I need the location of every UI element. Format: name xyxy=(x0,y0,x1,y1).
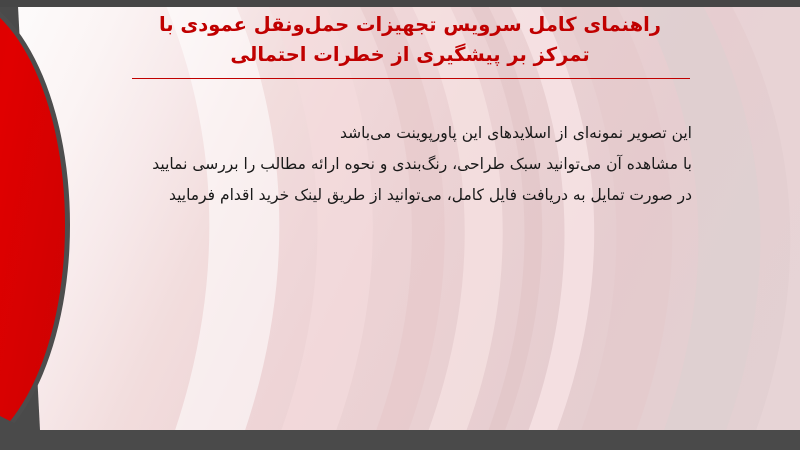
body-line-1: این تصویر نمونه‌ای از اسلایدهای این پاور… xyxy=(100,118,692,149)
top-border-strip xyxy=(0,0,800,7)
title-underline-rule xyxy=(132,78,690,79)
body-line-2: با مشاهده آن می‌توانید سبک طراحی، رنگ‌بن… xyxy=(100,149,692,180)
slide-title-line-2: تمرکز بر پیشگیری از خطرات احتمالی xyxy=(120,40,700,70)
slide-body-text: این تصویر نمونه‌ای از اسلایدهای این پاور… xyxy=(100,118,692,211)
bottom-border-strip xyxy=(0,430,800,450)
slide-title-line-1: راهنمای کامل سرویس تجهیزات حمل‌ونقل عمود… xyxy=(120,10,700,40)
body-line-3: در صورت تمایل به دریافت فایل کامل، می‌تو… xyxy=(100,180,692,211)
slide-title: راهنمای کامل سرویس تجهیزات حمل‌ونقل عمود… xyxy=(120,10,700,70)
presentation-slide: راهنمای کامل سرویس تجهیزات حمل‌ونقل عمود… xyxy=(0,0,800,450)
